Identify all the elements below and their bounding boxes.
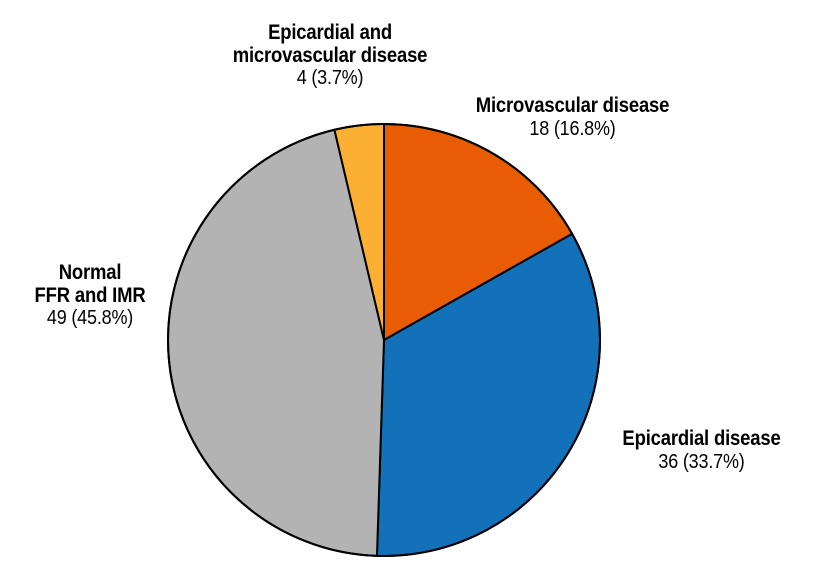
- callout-value: 4 (3.7%): [186, 68, 474, 90]
- callout-value: 49 (45.8%): [9, 308, 171, 330]
- callout-label-line2: FFR and IMR: [11, 285, 169, 308]
- pie-chart-figure: Epicardial and microvascular disease 4 (…: [0, 0, 815, 585]
- callout-normal-ffr-and-imr: Normal FFR and IMR 49 (45.8%): [0, 262, 180, 330]
- callout-label-line1: Epicardial and: [189, 22, 471, 45]
- callout-label-line2: microvascular disease: [189, 45, 471, 68]
- callout-epicardial-and-microvascular-disease: Epicardial and microvascular disease 4 (…: [170, 22, 490, 90]
- pie-slice-group: [168, 124, 600, 556]
- callout-epicardial-disease: Epicardial disease 36 (33.7%): [588, 428, 815, 473]
- callout-label-line1: Normal: [11, 262, 169, 285]
- callout-value: 36 (33.7%): [599, 452, 803, 474]
- callout-value: 18 (16.8%): [440, 119, 706, 141]
- callout-label-line1: Microvascular disease: [443, 95, 703, 118]
- callout-microvascular-disease: Microvascular disease 18 (16.8%): [425, 95, 720, 140]
- callout-label-line1: Epicardial disease: [602, 428, 802, 451]
